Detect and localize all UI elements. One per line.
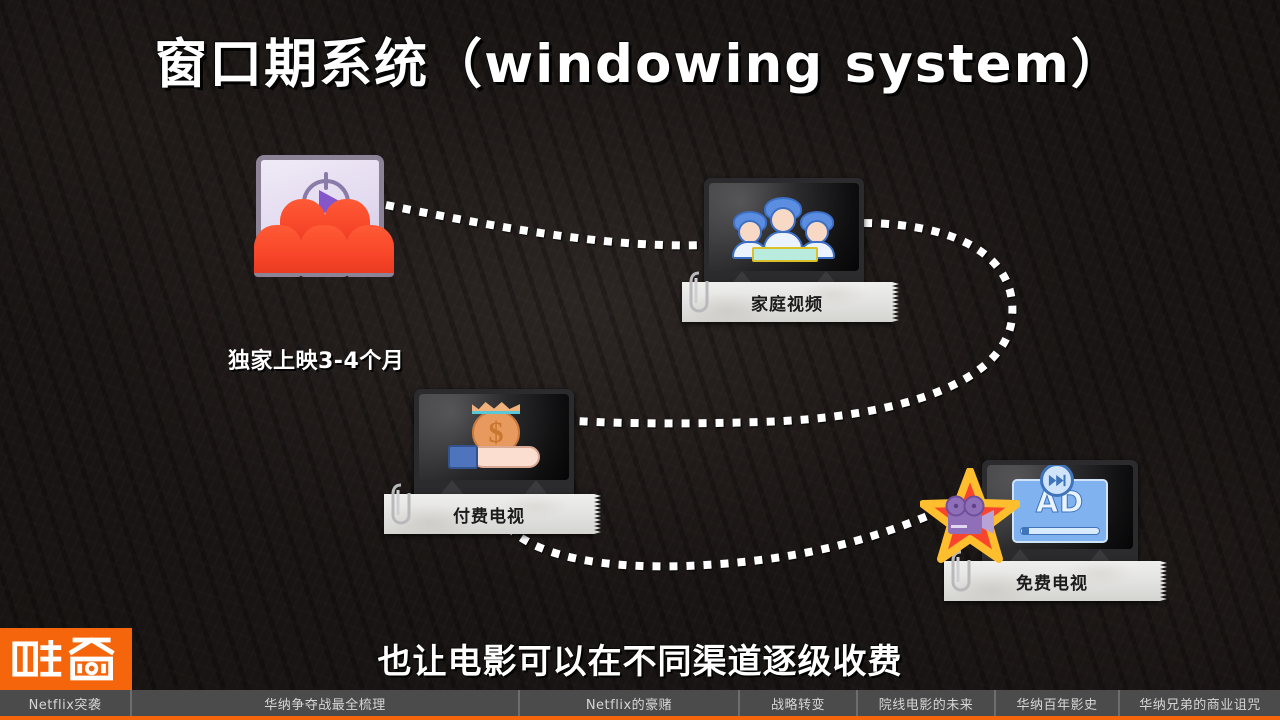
nav-item-4[interactable]: 院线电影的未来 — [858, 690, 996, 716]
nav-item-5[interactable]: 华纳百年影史 — [996, 690, 1120, 716]
cinema-seat — [300, 225, 348, 277]
label-text: 付费电视 — [453, 502, 525, 527]
cinema-seat — [254, 225, 302, 277]
nav-item-label: 华纳兄弟的商业诅咒 — [1139, 694, 1261, 713]
node-theatrical — [250, 155, 390, 280]
label-pay-tv: 付费电视 — [384, 494, 594, 534]
connector-paths — [0, 0, 1280, 720]
tv-caption-banner — [752, 247, 818, 262]
paperclip-icon — [688, 270, 710, 314]
nav-item-1[interactable]: 华纳争夺战最全梳理 — [132, 690, 520, 716]
label-home-video: 家庭视频 — [682, 282, 892, 322]
hand-icon — [448, 444, 540, 470]
tv-body: $ — [414, 389, 574, 503]
nav-item-label: Netflix突袭 — [29, 694, 102, 713]
money-bag-tie — [472, 402, 520, 414]
nav-item-label: 华纳争夺战最全梳理 — [264, 694, 386, 713]
tv-screen: $ — [419, 394, 569, 480]
tv-family-icon — [730, 195, 838, 259]
node-pay-tv: $ — [414, 389, 574, 503]
ad-progress-bar — [1020, 527, 1100, 535]
nav-item-0[interactable]: Netflix突袭 — [0, 690, 132, 716]
brand-logo — [0, 628, 132, 690]
nav-item-3[interactable]: 战略转变 — [740, 690, 858, 716]
tv-money-bag-icon: $ — [442, 402, 546, 472]
nav-item-label: Netflix的豪赌 — [586, 694, 672, 713]
page-title: 窗口期系统（windowing system） — [0, 22, 1280, 98]
label-free-tv: 免费电视 — [944, 561, 1160, 601]
label-text: 免费电视 — [1016, 569, 1088, 594]
nav-item-label: 战略转变 — [771, 694, 825, 713]
node-home-video — [704, 178, 864, 294]
theatrical-window-caption: 独家上映3-4个月 — [228, 343, 404, 375]
nav-item-label: 院线电影的未来 — [879, 694, 974, 713]
nav-item-6[interactable]: 华纳兄弟的商业诅咒 — [1120, 690, 1280, 716]
tv-body — [704, 178, 864, 294]
nav-item-2[interactable]: Netflix的豪赌 — [520, 690, 740, 716]
slide-canvas: 窗口期系统（windowing system） 独家上映3-4个月 — [0, 0, 1280, 720]
bottom-navbar[interactable]: Netflix突袭 华纳争夺战最全梳理 Netflix的豪赌 战略转变 院线电影… — [0, 690, 1280, 720]
movie-camera-star-badge — [920, 468, 1020, 564]
label-text: 家庭视频 — [751, 290, 823, 315]
guigu-101-logo-icon — [10, 634, 122, 684]
tv-screen — [709, 183, 859, 271]
tv-ad-icon: AD — [1012, 471, 1108, 543]
nav-item-label: 华纳百年影史 — [1016, 694, 1097, 713]
cinema-seat — [346, 225, 394, 277]
connector-theatrical-to-homevideo — [386, 205, 704, 245]
slide-subtitle: 也让电影可以在不同渠道逐级收费 — [0, 634, 1280, 683]
paperclip-icon — [390, 482, 412, 526]
